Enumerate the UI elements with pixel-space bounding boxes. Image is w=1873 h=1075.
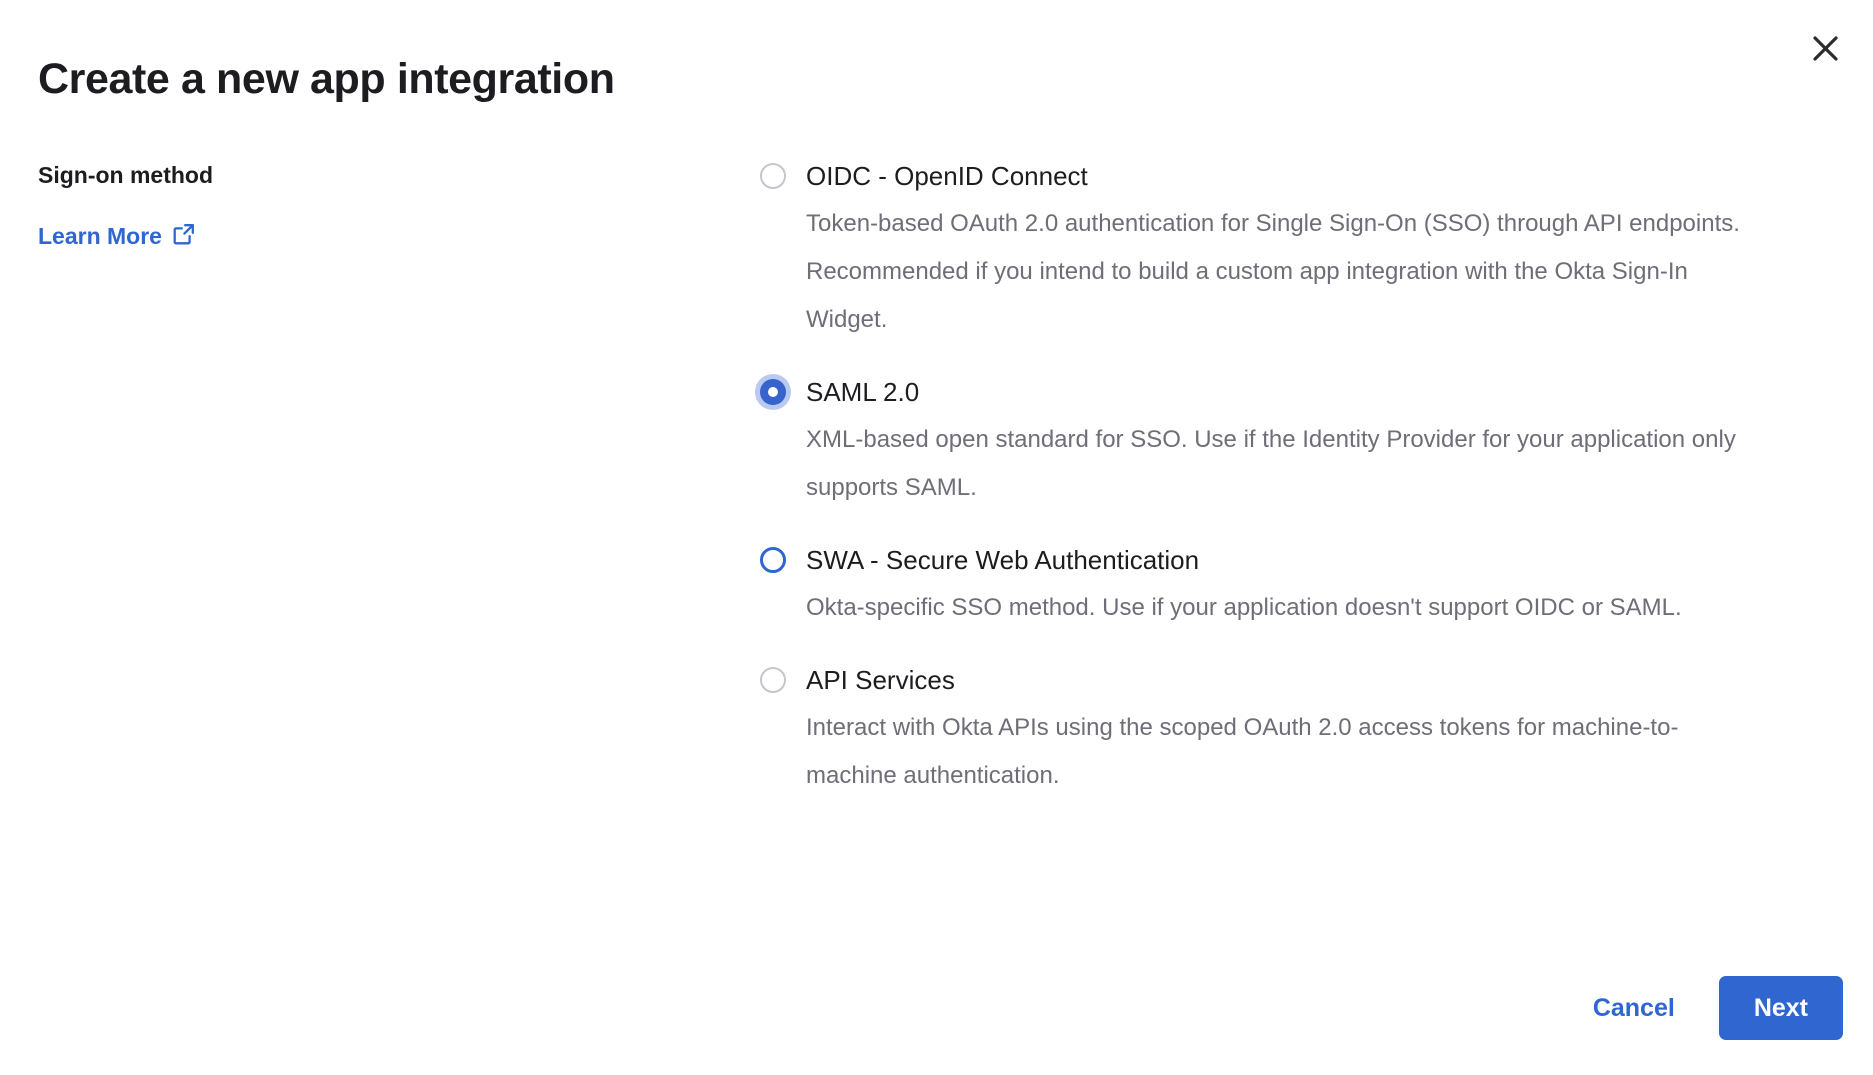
create-app-integration-dialog: Create a new app integration Sign-on met… [0, 0, 1873, 1075]
option-swa-text: SWA - Secure Web Authentication Okta-spe… [806, 544, 1764, 632]
option-saml-description: XML-based open standard for SSO. Use if … [806, 416, 1764, 512]
option-saml[interactable]: SAML 2.0 XML-based open standard for SSO… [760, 376, 1764, 512]
option-swa-description: Okta-specific SSO method. Use if your ap… [806, 584, 1764, 632]
learn-more-label: Learn More [38, 221, 162, 251]
radio-oidc[interactable] [760, 163, 786, 189]
option-api-services[interactable]: API Services Interact with Okta APIs usi… [760, 664, 1764, 800]
dialog-body: Sign-on method Learn More OIDC - OpenID … [0, 160, 1873, 800]
dialog-title: Create a new app integration [38, 52, 615, 106]
external-link-icon [173, 222, 195, 252]
sign-on-method-column: Sign-on method Learn More [0, 160, 760, 252]
option-swa-label: SWA - Secure Web Authentication [806, 544, 1764, 576]
option-api-services-description: Interact with Okta APIs using the scoped… [806, 704, 1764, 800]
option-api-services-label: API Services [806, 664, 1764, 696]
option-saml-text: SAML 2.0 XML-based open standard for SSO… [806, 376, 1764, 512]
sign-on-method-options: OIDC - OpenID Connect Token-based OAuth … [760, 160, 1820, 800]
radio-swa[interactable] [760, 547, 786, 573]
close-icon [1812, 35, 1839, 62]
dialog-footer: Cancel Next [1585, 976, 1843, 1040]
option-oidc[interactable]: OIDC - OpenID Connect Token-based OAuth … [760, 160, 1764, 344]
learn-more-link[interactable]: Learn More [38, 220, 195, 252]
option-saml-label: SAML 2.0 [806, 376, 1764, 408]
option-oidc-label: OIDC - OpenID Connect [806, 160, 1764, 192]
option-oidc-description: Token-based OAuth 2.0 authentication for… [806, 200, 1764, 344]
option-api-services-text: API Services Interact with Okta APIs usi… [806, 664, 1764, 800]
radio-saml[interactable] [760, 379, 786, 405]
close-dialog-button[interactable] [1799, 22, 1851, 74]
radio-api-services[interactable] [760, 667, 786, 693]
option-oidc-text: OIDC - OpenID Connect Token-based OAuth … [806, 160, 1764, 344]
cancel-button[interactable]: Cancel [1585, 987, 1683, 1029]
option-swa[interactable]: SWA - Secure Web Authentication Okta-spe… [760, 544, 1764, 632]
next-button[interactable]: Next [1719, 976, 1843, 1040]
sign-on-method-label: Sign-on method [38, 160, 760, 190]
